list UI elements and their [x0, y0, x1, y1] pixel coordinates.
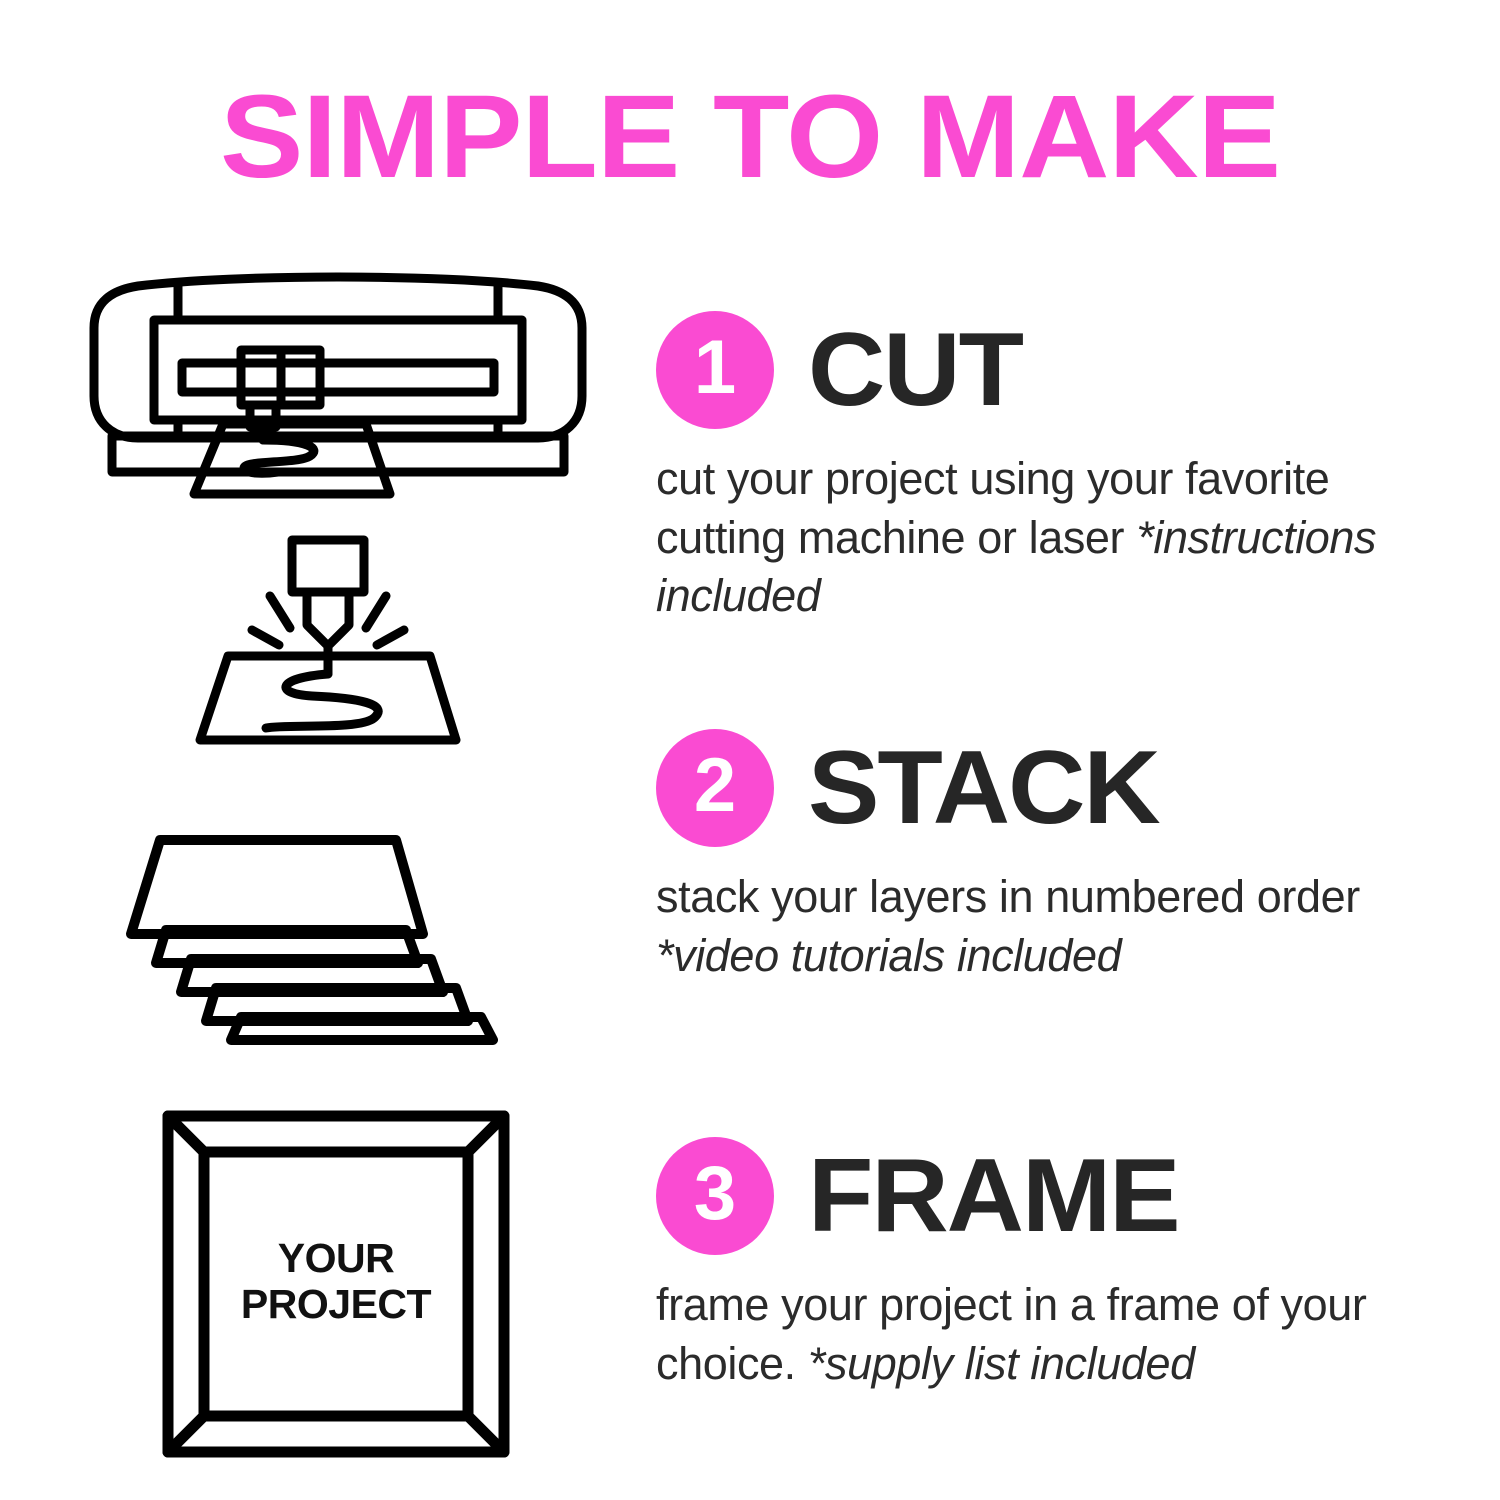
- page-title: SIMPLE TO MAKE: [0, 78, 1500, 196]
- step-2-description-plain: stack your layers in numbered order: [656, 871, 1360, 922]
- step-1-heading: 1 CUT: [656, 310, 1456, 430]
- infographic-page: SIMPLE TO MAKE: [0, 0, 1500, 1500]
- step-2-title: STACK: [808, 736, 1159, 840]
- step-2-heading: 2 STACK: [656, 728, 1456, 848]
- step-1-cut: 1 CUT cut your project using your favori…: [656, 310, 1456, 626]
- step-3-title: FRAME: [808, 1144, 1179, 1248]
- step-3-frame: 3 FRAME frame your project in a frame of…: [656, 1136, 1456, 1393]
- laser-cutter-icon: [178, 528, 478, 760]
- step-2-stack: 2 STACK stack your layers in numbered or…: [656, 728, 1456, 985]
- step-2-number-badge: 2: [656, 729, 774, 847]
- step-3-number-badge: 3: [656, 1137, 774, 1255]
- frame-project-label: YOUR PROJECT: [160, 1236, 512, 1328]
- frame-label-line-2: PROJECT: [160, 1282, 512, 1328]
- stacked-layers-icon: [118, 818, 568, 1050]
- picture-frame-icon: YOUR PROJECT: [160, 1108, 512, 1460]
- step-1-description: cut your project using your favorite cut…: [656, 450, 1446, 626]
- step-1-number-badge: 1: [656, 311, 774, 429]
- step-3-heading: 3 FRAME: [656, 1136, 1456, 1256]
- cutting-machine-icon: [78, 268, 598, 508]
- step-2-description-note: *video tutorials included: [656, 930, 1121, 981]
- step-3-description: frame your project in a frame of your ch…: [656, 1276, 1446, 1393]
- step-2-description: stack your layers in numbered order *vid…: [656, 868, 1446, 985]
- step-3-description-note: *supply list included: [808, 1338, 1195, 1389]
- step-1-title: CUT: [808, 318, 1022, 422]
- frame-label-line-1: YOUR: [160, 1236, 512, 1282]
